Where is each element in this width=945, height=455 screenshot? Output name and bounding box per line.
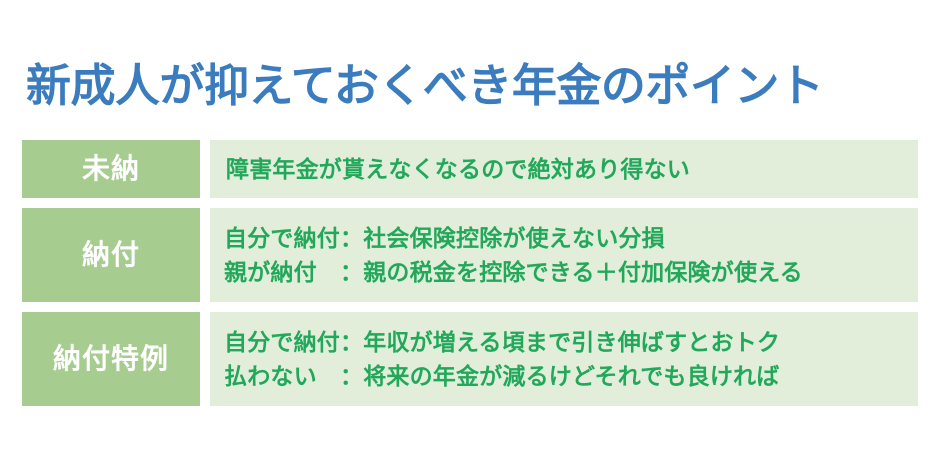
point-label-text: 納付特例: [53, 345, 169, 373]
points-list: 未納 障害年金が貰えなくなるので絶対あり得ない 納付 自分で納付：社会保険控除が…: [0, 140, 945, 416]
point-label-text: 未納: [82, 155, 140, 183]
point-content-box: 障害年金が貰えなくなるので絶対あり得ない: [210, 140, 918, 198]
page-title: 新成人が抑えておくべき年金のポイント: [26, 58, 906, 114]
point-content-box: 自分で納付：年収が増える頃まで引き伸ばすとおトク 払わない ：将来の年金が減るけ…: [210, 312, 918, 406]
point-content-line: 払わない ：将来の年金が減るけどそれでも良ければ: [224, 359, 918, 393]
point-content-box: 自分で納付：社会保険控除が使えない分損 親が納付 ：親の税金を控除できる＋付加保…: [210, 208, 918, 302]
point-row: 納付 自分で納付：社会保険控除が使えない分損 親が納付 ：親の税金を控除できる＋…: [0, 208, 945, 302]
point-content-line: 自分で納付：社会保険控除が使えない分損: [224, 221, 918, 255]
point-label-box: 納付: [22, 208, 200, 302]
point-label-text: 納付: [82, 241, 140, 269]
point-content-line: 障害年金が貰えなくなるので絶対あり得ない: [226, 152, 918, 186]
point-content-line: 自分で納付：年収が増える頃まで引き伸ばすとおトク: [224, 325, 918, 359]
point-row: 納付特例 自分で納付：年収が増える頃まで引き伸ばすとおトク 払わない ：将来の年…: [0, 312, 945, 406]
infographic-root: 新成人が抑えておくべき年金のポイント 未納 障害年金が貰えなくなるので絶対あり得…: [0, 0, 945, 455]
point-row: 未納 障害年金が貰えなくなるので絶対あり得ない: [0, 140, 945, 198]
point-label-box: 納付特例: [22, 312, 200, 406]
point-label-box: 未納: [22, 140, 200, 198]
point-content-line: 親が納付 ：親の税金を控除できる＋付加保険が使える: [224, 255, 918, 289]
